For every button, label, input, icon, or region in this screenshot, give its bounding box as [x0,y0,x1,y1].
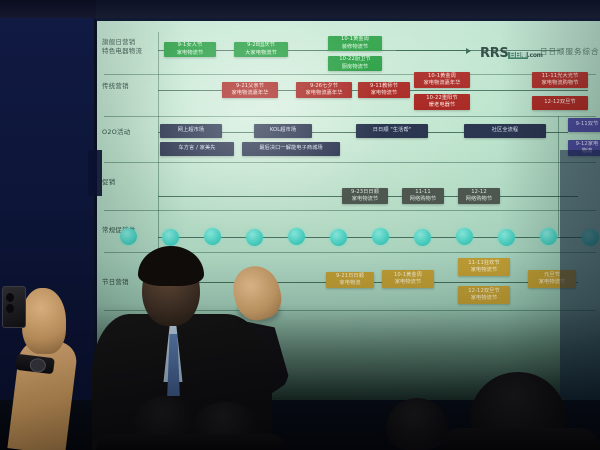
row-divider [104,162,596,163]
slide-node: 9-23日日顺家电物流节 [342,188,388,204]
photographer-hand [22,288,66,354]
slide-node-line: 最后决口一解能电子商城场 [259,145,322,152]
slide-node-line: 家电物流购物节 [541,80,578,87]
slide-node-line: 网上超市场 [178,127,204,134]
slide-node: 9-11教师节家电物流节 [358,82,410,98]
slide-node-line: 9-11教师节 [370,83,398,90]
audience-photographer [0,282,88,450]
slide-node-line: 家电物流节 [177,50,203,57]
slide-node-line: 9-28国庆节 [245,42,277,49]
slide-node-line: 家电物流节 [370,90,398,97]
slide-node-line: 11-11 [410,189,436,196]
daily-promo-dot [246,229,263,246]
slide-node-line: 9-26七夕节 [305,83,342,90]
slide-node: 最后决口一解能电子商城场 [242,142,340,156]
slide-node: 10-22厨卫节厨房物流节 [328,56,382,71]
slide-node-line: 家电物流节 [351,196,379,203]
slide-node: 9-26七夕节家电物流嘉年华 [296,82,352,98]
slide-node-line: 12-12双旦节 [544,99,575,106]
photo-canvas: RRS日日顺.com 日日顺服务综合 旗舰日营销特色电器物流传统营销O2O活动促… [0,0,600,450]
daily-promo-dot [120,228,137,245]
slide-node-line: 9-11双节 [576,121,599,128]
slide-node: 10-22重阳节暖老电器节 [414,94,470,110]
row-divider [104,74,596,75]
slide-node-line: 10-1黄金周 [394,272,422,279]
row-label-o2o: O2O活动 [102,128,130,137]
slide-node: KOL超市场 [254,124,312,138]
timeline-arrow [396,50,470,51]
slide-node: 日日顺 "生活帮" [356,124,428,138]
daily-promo-dot [498,229,515,246]
row-divider [104,210,596,211]
slide-node-line: 家电物流节 [394,279,422,286]
slide-node-line: 10-1黄金周 [341,36,369,43]
slide-node-line: 车方言 / 家美先 [178,145,215,152]
slide-node-line: 12-12 [466,189,492,196]
column-guide [558,116,559,236]
slide-node-line: 家电物流 [336,280,364,287]
slide-node-line: 11-11狂欢节 [468,260,499,267]
slide-node: 网上超市场 [160,124,222,138]
slide-node: 9-21日日顺家电物流 [326,272,374,288]
slide-node: 9-28国庆节大家电物流节 [234,42,288,57]
slide-node-line: KOL超市场 [270,127,296,134]
slide-node-line: 9-21父亲节 [231,83,268,90]
daily-promo-dot [414,229,431,246]
slide-node: 12-12双旦节家电物流节 [458,286,510,304]
daily-promo-dot [204,228,221,245]
slide-node-line: 暖老电器节 [426,102,457,109]
audience-shoulders [440,428,600,450]
speaker-hair [138,246,204,286]
slide-node: 10-1黄金周家电物流节 [382,270,434,288]
slide-node-line: 网络购物节 [466,196,492,203]
slide-node: 车方言 / 家美先 [160,142,234,156]
slide-node-line: 社区全流程 [492,127,518,134]
slide-node-line: 家电物流节 [468,267,499,274]
slide-node-line: 大家电物流节 [245,50,277,57]
slide-node-line: 厨房物流节 [339,64,370,71]
slide-node-line: 9-21日日顺 [336,273,364,280]
slide-node: 10-1黄金周装修物流节 [328,36,382,51]
smartphone-camera [2,286,26,328]
slide-node-line: 9-12家电 [576,141,599,148]
slide-node-line: 家电物流节 [468,295,499,302]
daily-promo-dot [162,229,179,246]
row-divider [104,116,596,117]
audience-shoulders [96,434,286,450]
slide-node-line: 10-1黄金周 [423,73,460,80]
row-label-promo: 促销 [102,178,115,187]
slide-node-line: 10-22厨卫节 [339,56,370,63]
slide-node: 12-12双旦节 [532,96,588,110]
slide-node-line: 装修物流节 [341,44,369,51]
slide-node-line: 家电物流嘉年华 [305,90,342,97]
daily-promo-dot [372,228,389,245]
slide-node-line: 10-22重阳节 [426,95,457,102]
slide-node: 11-11光大光节家电物流购物节 [532,72,588,88]
slide-node-line: 日日顺 "生活帮" [373,127,411,134]
slide-node-line: 12-12双旦节 [468,288,499,295]
slide-node: 9-21父亲节家电物流嘉年华 [222,82,278,98]
slide-node-line: 9-23日日顺 [351,189,379,196]
slide-node-line: 家电物流嘉年华 [423,80,460,87]
slide-node-line: 9-1女人节 [177,42,203,49]
ceiling-beam [96,0,600,22]
rrs-logo: RRS日日顺.com [480,42,543,61]
daily-promo-dot [330,229,347,246]
slide-node: 9-11双节 [568,118,600,132]
slide-node: 社区全流程 [464,124,546,138]
slide-node-line: 11-11光大光节 [541,73,578,80]
daily-promo-dot [288,228,305,245]
slide-node-line: 网络购物节 [410,196,436,203]
wall-notch [88,150,102,196]
slide-node-line: 家电物流嘉年华 [231,90,268,97]
logo-cn-text: 日日顺 [508,52,527,59]
logo-main-text: RRS [480,46,508,61]
slide-node: 11-11狂欢节家电物流节 [458,258,510,276]
slide-node: 12-12网络购物节 [458,188,500,204]
row-label-flagship: 旗舰日营销特色电器物流 [102,38,142,57]
slide-header-right: 日日顺服务综合 [540,46,600,57]
row-label-festival: 传统营销 [102,82,129,91]
daily-promo-dot [456,228,473,245]
slide-node: 11-11网络购物节 [402,188,444,204]
slide-node: 9-1女人节家电物流节 [164,42,216,57]
slide-node: 10-1黄金周家电物流嘉年华 [414,72,470,88]
daily-promo-dot [540,228,557,245]
